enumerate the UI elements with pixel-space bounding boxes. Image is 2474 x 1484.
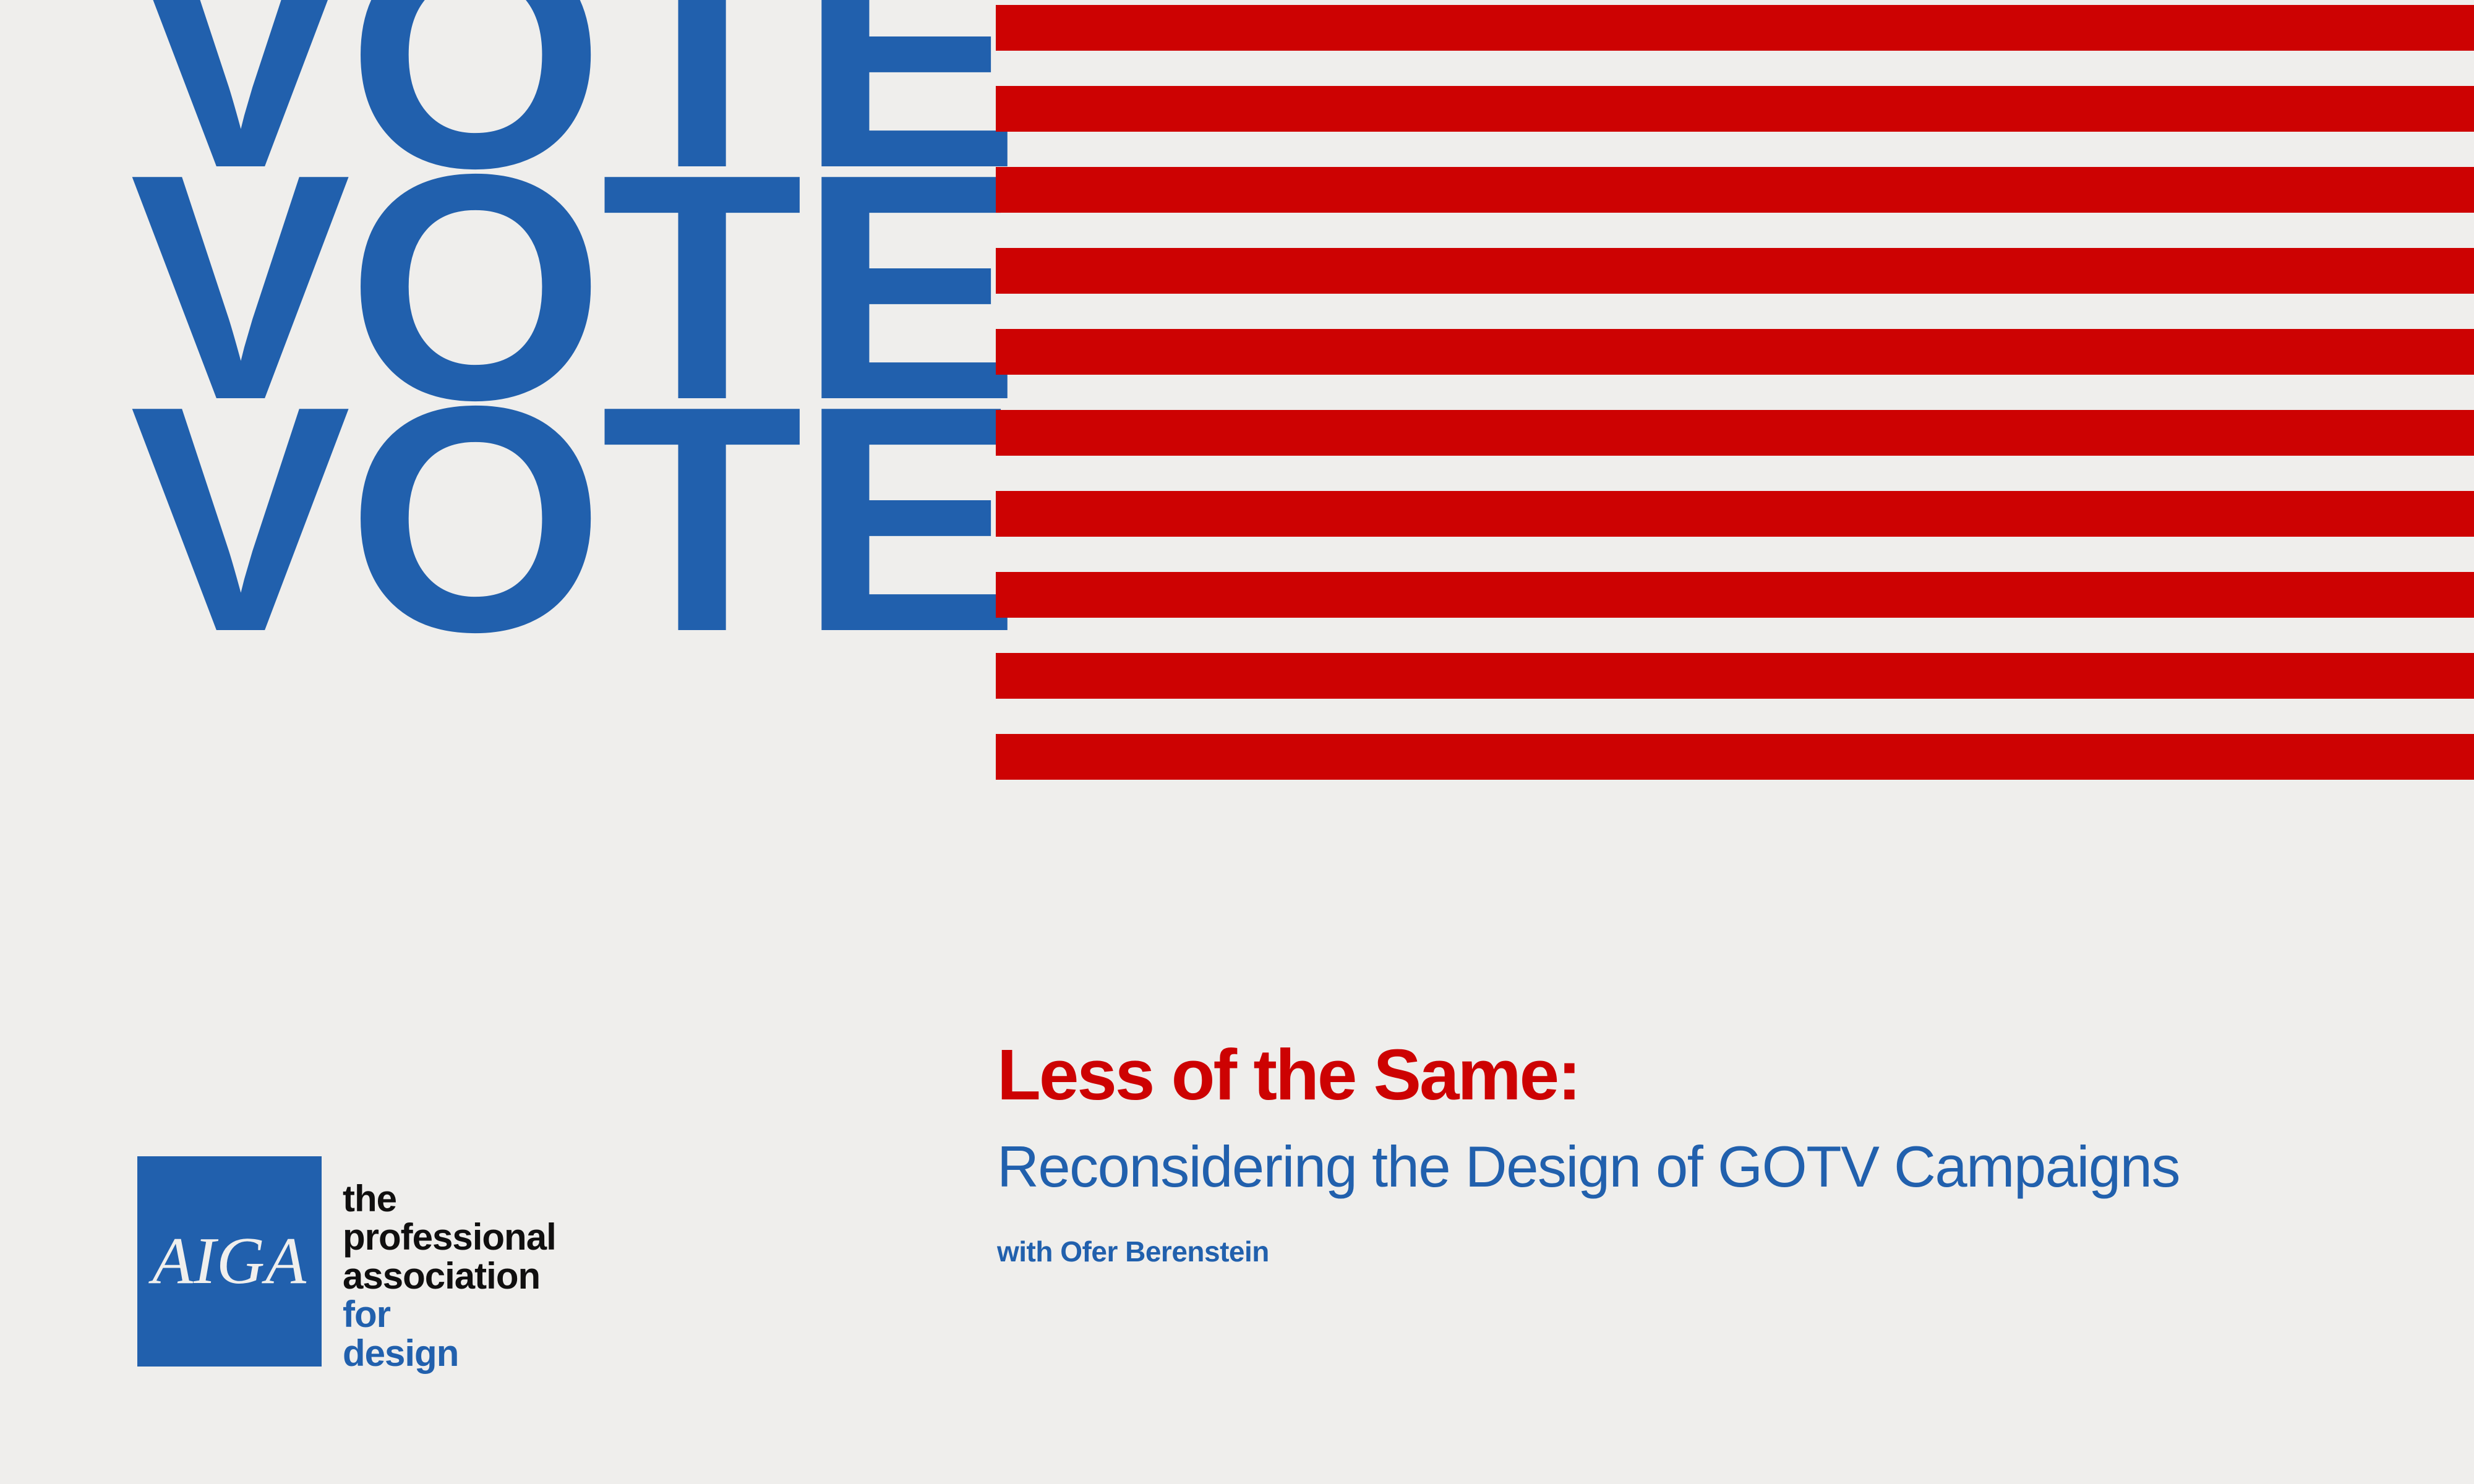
aiga-tagline-line-4: for [343,1295,556,1334]
flag-stripe [996,167,2474,213]
aiga-logo-lockup: AIGA the professional association for de… [137,1156,556,1373]
flag-stripe [996,572,2474,618]
flag-stripe [996,410,2474,456]
talk-title: Less of the Same: [997,1039,2358,1111]
aiga-tagline-line-3: association [343,1257,556,1295]
flag-stripe [996,86,2474,132]
vote-wordmark-line-3: VOTE [130,396,1022,643]
flag-stripe [996,734,2474,780]
aiga-tagline: the professional association for design [343,1156,556,1373]
aiga-tagline-line-5: design [343,1334,556,1373]
aiga-mark-icon: AIGA [137,1156,322,1367]
talk-subtitle: Reconsidering the Design of GOTV Campaig… [997,1136,2358,1198]
vote-wordmark-stack: VOTE VOTE VOTE [130,0,996,810]
talk-title-block: Less of the Same: Reconsidering the Desi… [997,1039,2358,1266]
flag-stripe [996,491,2474,537]
flag-stripes [996,0,2474,798]
flag-stripe [996,653,2474,699]
flag-graphic: VOTE VOTE VOTE [0,0,2474,798]
lower-content: AIGA the professional association for de… [0,798,2474,1484]
flag-stripe [996,248,2474,294]
flag-stripe [996,5,2474,51]
poster-canvas: VOTE VOTE VOTE AIGA the professional [0,0,2474,1484]
aiga-tagline-line-2: professional [343,1218,556,1256]
aiga-tagline-line-1: the [343,1180,556,1218]
flag-stripe [996,329,2474,375]
aiga-mark-letters: AIGA [137,1228,322,1295]
talk-presenter: with Ofer Berenstein [997,1237,2358,1266]
